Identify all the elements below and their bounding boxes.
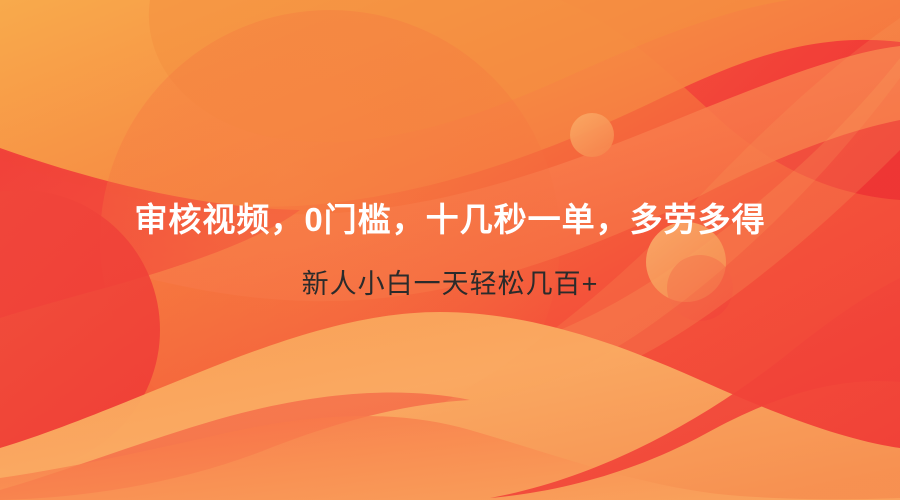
page-title: 审核视频，0门槛，十几秒一单，多劳多得	[134, 200, 765, 240]
page-subtitle: 新人小白一天轻松几百+	[302, 268, 599, 300]
promo-banner: 审核视频，0门槛，十几秒一单，多劳多得 新人小白一天轻松几百+	[0, 0, 900, 500]
headline-group: 审核视频，0门槛，十几秒一单，多劳多得 新人小白一天轻松几百+	[0, 0, 900, 500]
